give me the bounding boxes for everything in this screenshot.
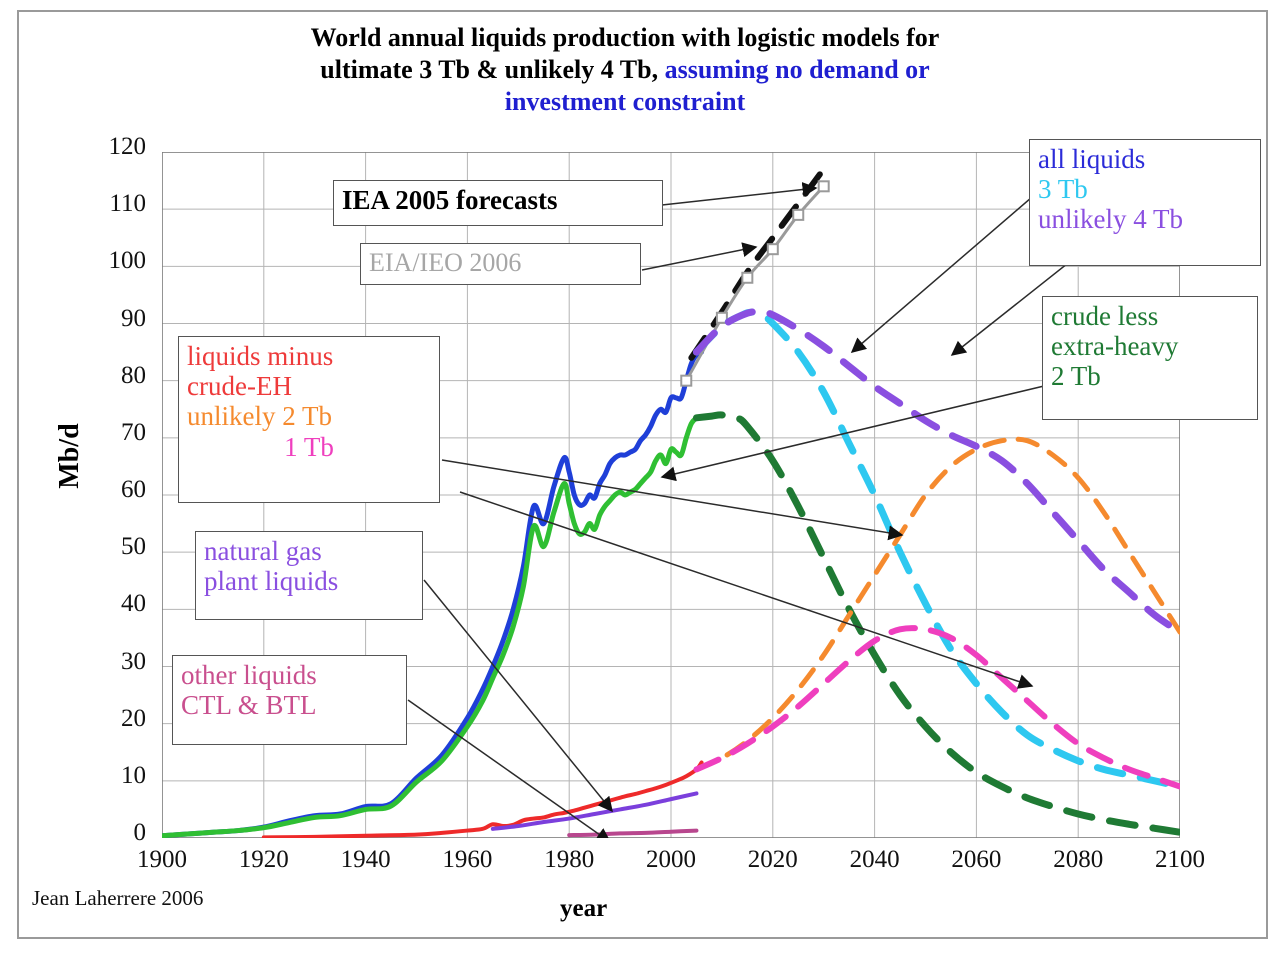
- annotation-line: liquids minus: [187, 341, 431, 371]
- x-tick-label: 2020: [723, 850, 823, 870]
- annotation-line: extra-heavy: [1051, 331, 1249, 361]
- annotation-line: all liquids: [1038, 144, 1252, 174]
- annotation-natural-gas-plant-liquids: natural gasplant liquids: [195, 531, 423, 620]
- y-tick-label: 10: [76, 766, 146, 786]
- y-tick-label: 60: [76, 480, 146, 500]
- leader-iea: [662, 188, 816, 205]
- series-marker: [681, 376, 691, 386]
- series-line: [493, 793, 697, 828]
- annotation-line: unlikely 4 Tb: [1038, 204, 1252, 234]
- series-marker: [819, 181, 829, 191]
- series-line: [696, 628, 1180, 786]
- chart-page: World annual liquids production with log…: [0, 0, 1280, 970]
- author-credit: Jean Laherrere 2006: [32, 886, 203, 911]
- x-tick-label: 1900: [112, 850, 212, 870]
- y-tick-label: 20: [76, 709, 146, 729]
- series-line: [569, 831, 696, 836]
- annotation-line: CTL & BTL: [181, 690, 398, 720]
- series-line: [691, 169, 823, 358]
- leader-1tb: [460, 492, 1032, 686]
- y-tick-label: 80: [76, 366, 146, 386]
- x-axis-label: year: [560, 895, 607, 923]
- series-marker: [768, 244, 778, 254]
- series-marker: [742, 273, 752, 283]
- y-tick-label: 30: [76, 652, 146, 672]
- annotation-line: EIA/IEO 2006: [369, 248, 632, 277]
- annotation-iea-2005-forecasts: IEA 2005 forecasts: [333, 180, 663, 226]
- annotation-line: plant liquids: [204, 566, 414, 596]
- y-tick-label: 0: [76, 823, 146, 843]
- title-line-2-black: ultimate 3 Tb & unlikely 4 Tb,: [320, 55, 664, 84]
- x-tick-label: 2040: [825, 850, 925, 870]
- annotation-line: unlikely 2 Tb: [187, 401, 431, 431]
- series-line: [264, 763, 702, 838]
- x-tick-label: 1980: [519, 850, 619, 870]
- annotation-line: 1 Tb: [187, 432, 431, 462]
- annotation-crude-less-extra-heavy: crude lessextra-heavy2 Tb: [1042, 296, 1258, 420]
- y-tick-label: 110: [76, 194, 146, 214]
- y-tick-label: 90: [76, 309, 146, 329]
- x-tick-label: 2000: [621, 850, 721, 870]
- annotation-all-liquids: all liquids3 Tbunlikely 4 Tb: [1029, 139, 1261, 266]
- x-tick-label: 2100: [1130, 850, 1230, 870]
- title-line-2-blue: assuming no demand or: [665, 55, 930, 84]
- annotation-line: crude less: [1051, 301, 1249, 331]
- title-line-3: investment constraint: [505, 87, 745, 116]
- annotation-line: 2 Tb: [1051, 361, 1249, 391]
- annotation-other-liquids-ctl-btl: other liquidsCTL & BTL: [172, 655, 407, 745]
- x-tick-label: 1960: [417, 850, 517, 870]
- annotation-liquids-minus-crude-eh: liquids minuscrude-EHunlikely 2 Tb1 Tb: [178, 336, 440, 503]
- leader-crude-2tb: [662, 386, 1044, 477]
- series-line: [696, 439, 1180, 769]
- x-tick-label: 1920: [214, 850, 314, 870]
- annotation-line: IEA 2005 forecasts: [342, 185, 654, 215]
- y-tick-label: 70: [76, 423, 146, 443]
- title-line-1: World annual liquids production with log…: [311, 23, 940, 52]
- annotation-line: other liquids: [181, 660, 398, 690]
- annotation-eia-ieo-2006: EIA/IEO 2006: [360, 243, 641, 285]
- y-tick-label: 50: [76, 537, 146, 557]
- leader-all-liquids-3tb: [852, 185, 1046, 352]
- chart-title: World annual liquids production with log…: [120, 22, 1130, 118]
- leader-unlikely2tb: [442, 460, 902, 535]
- x-tick-label: 2060: [926, 850, 1026, 870]
- y-tick-label: 40: [76, 594, 146, 614]
- x-tick-label: 1940: [316, 850, 416, 870]
- series-marker: [793, 210, 803, 220]
- y-tick-label: 120: [76, 137, 146, 157]
- annotation-line: 3 Tb: [1038, 174, 1252, 204]
- annotation-line: crude-EH: [187, 371, 431, 401]
- y-tick-label: 100: [76, 251, 146, 271]
- annotation-line: natural gas: [204, 536, 414, 566]
- x-tick-label: 2080: [1028, 850, 1128, 870]
